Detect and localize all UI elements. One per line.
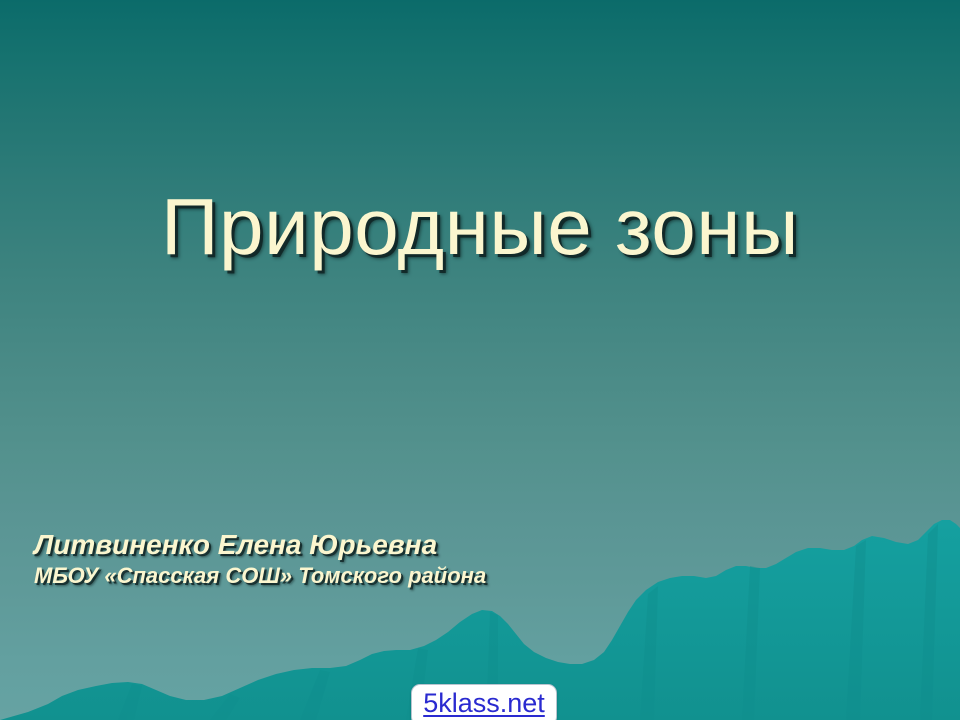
author-name: Литвиненко Елена Юрьевна: [34, 528, 654, 561]
presentation-slide: Природные зоны Литвиненко Елена Юрьевна …: [0, 0, 960, 720]
author-organization: МБОУ «Спасская СОШ» Томского района: [34, 563, 654, 589]
slide-title: Природные зоны: [0, 186, 960, 268]
author-block: Литвиненко Елена Юрьевна МБОУ «Спасская …: [34, 528, 654, 589]
watermark-link[interactable]: 5klass.net: [423, 687, 545, 719]
watermark-badge[interactable]: 5klass.net: [411, 684, 557, 720]
